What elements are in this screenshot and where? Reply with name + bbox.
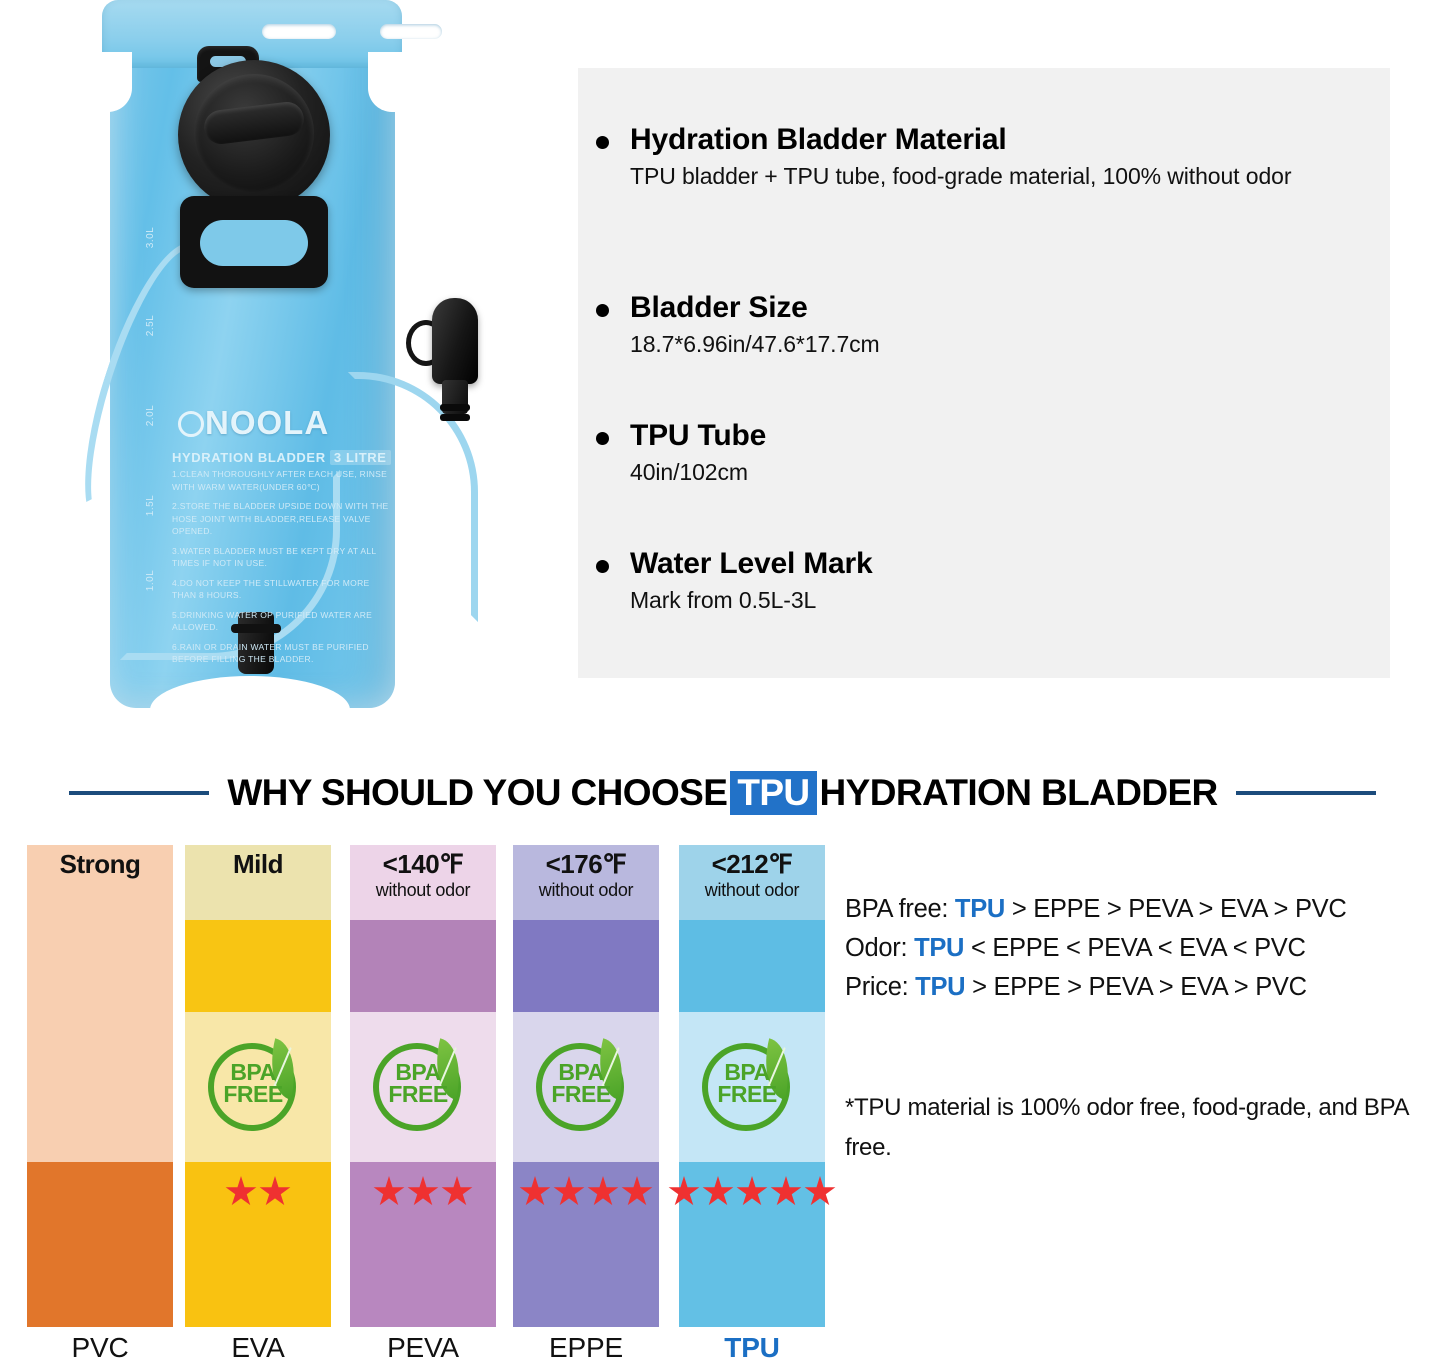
feature-title: Bladder Size — [630, 290, 1350, 326]
bullet-icon — [596, 432, 609, 445]
rating-stars — [519, 1176, 653, 1208]
ranking-operator: > — [1192, 895, 1220, 923]
feature-description: Mark from 0.5L-3L — [630, 585, 1350, 616]
care-instruction-item: 2.STORE THE BLADDER UPSIDE DOWN WITH THE… — [172, 500, 392, 538]
feature-item: Bladder Size 18.7*6.96in/47.6*17.7cm — [630, 290, 1350, 360]
column-bpa-band: BPAFREE — [185, 1012, 331, 1162]
ranking-item: EPPE — [1033, 895, 1100, 923]
column-body-band — [27, 920, 173, 1012]
material-column-pvc: Strong — [27, 845, 173, 1327]
column-bpa-band: BPAFREE — [350, 1012, 496, 1162]
feature-description: 18.7*6.96in/47.6*17.7cm — [630, 329, 1350, 360]
bladder-waist-right — [368, 52, 402, 112]
ranking-line: Price: TPU > EPPE > PEVA > EVA > PVC — [845, 968, 1445, 1007]
bullet-icon — [596, 560, 609, 573]
material-label-tpu: TPU — [679, 1332, 825, 1364]
ranking-list: BPA free: TPU > EPPE > PEVA > EVA > PVCO… — [845, 890, 1445, 1007]
bpa-free-icon: BPAFREE — [371, 1035, 475, 1139]
ranking-operator: < — [1226, 934, 1254, 962]
column-header-band: Mild — [185, 845, 331, 920]
brand-logo-text: NOOLA — [205, 404, 329, 441]
column-heat-or-odor-label: Strong — [60, 849, 141, 879]
column-odor-label: without odor — [705, 879, 799, 901]
star-icon — [770, 1176, 802, 1208]
care-instruction-item: 1.CLEAN THOROUGHLY AFTER EACH USE, RINSE… — [172, 468, 392, 493]
ranking-label: Price: — [845, 973, 915, 1001]
ranking-label: Odor: — [845, 934, 914, 962]
bullet-icon — [596, 304, 609, 317]
column-rating-band — [679, 1162, 825, 1327]
rating-stars — [225, 1176, 291, 1208]
bpa-label: BPAFREE — [544, 1061, 618, 1105]
ranking-item: EVA — [1220, 895, 1267, 923]
product-infographic-page: 3.0L 2.5L 2.0L 1.5L 1.0L NOOLA HYDRATION… — [0, 0, 1445, 1370]
star-icon — [587, 1176, 619, 1208]
footnote: *TPU material is 100% odor free, food-gr… — [845, 1088, 1420, 1168]
star-icon — [736, 1176, 768, 1208]
feature-description: TPU bladder + TPU tube, food-grade mater… — [630, 161, 1350, 192]
ranking-operator: < — [1059, 934, 1087, 962]
column-rating-band — [27, 1162, 173, 1327]
column-header-band: Strong — [27, 845, 173, 920]
care-instruction-item: 5.DRINKING WATER OP PURIFIED WATER ARE A… — [172, 609, 392, 634]
column-body-band — [350, 920, 496, 1012]
star-icon — [804, 1176, 836, 1208]
feature-item: Hydration Bladder Material TPU bladder +… — [630, 122, 1350, 192]
care-instructions: 1.CLEAN THOROUGHLY AFTER EACH USE, RINSE… — [172, 468, 392, 673]
product-subtitle-text: HYDRATION BLADDER — [172, 450, 326, 465]
column-heat-or-odor-label: <140℉ — [383, 849, 464, 879]
ranking-item: PVC — [1255, 973, 1307, 1001]
ranking-item: TPU — [914, 934, 964, 962]
ranking-item: PEVA — [1087, 934, 1151, 962]
material-column-eppe: <176℉without odorBPAFREE — [513, 845, 659, 1327]
column-header-band: <176℉without odor — [513, 845, 659, 920]
feature-panel: Hydration Bladder Material TPU bladder +… — [578, 68, 1390, 678]
column-bpa-band: BPAFREE — [679, 1012, 825, 1162]
column-body-band — [185, 920, 331, 1012]
ranking-item: EVA — [1180, 973, 1227, 1001]
ranking-label: BPA free: — [845, 895, 955, 923]
bpa-free-icon: BPAFREE — [700, 1035, 804, 1139]
carry-handle — [180, 196, 328, 288]
heading-tpu-badge: TPU — [730, 771, 816, 815]
star-icon — [702, 1176, 734, 1208]
column-heat-or-odor-label: Mild — [233, 849, 283, 879]
material-label-peva: PEVA — [350, 1332, 496, 1364]
ranking-operator: > — [1227, 973, 1255, 1001]
star-icon — [621, 1176, 653, 1208]
product-subtitle: HYDRATION BLADDER 3 LITRE — [172, 450, 402, 465]
hanger-slot-left — [262, 24, 336, 39]
column-odor-label: without odor — [376, 879, 470, 901]
column-header-band: <140℉without odor — [350, 845, 496, 920]
valve-ring-lower — [440, 414, 470, 421]
ranking-item: EPPE — [993, 973, 1060, 1001]
material-label-eppe: EPPE — [513, 1332, 659, 1364]
ranking-line: Odor: TPU < EPPE < PEVA < EVA < PVC — [845, 929, 1445, 968]
column-heat-or-odor-label: <176℉ — [546, 849, 627, 879]
ranking-operator: > — [965, 973, 993, 1001]
column-rating-band — [185, 1162, 331, 1327]
care-instruction-item: 4.DO NOT KEEP THE STILLWATER FOR MORE TH… — [172, 577, 392, 602]
star-icon — [668, 1176, 700, 1208]
bite-valve-cover — [432, 298, 478, 384]
material-column-peva: <140℉without odorBPAFREE — [350, 845, 496, 1327]
bladder-cap — [178, 60, 330, 210]
column-rating-band — [350, 1162, 496, 1327]
ranking-operator: < — [1151, 934, 1179, 962]
carry-handle-hole — [200, 220, 308, 266]
brand-logo: NOOLA — [178, 404, 358, 442]
product-image: 3.0L 2.5L 2.0L 1.5L 1.0L NOOLA HYDRATION… — [0, 0, 560, 740]
feature-title: TPU Tube — [630, 418, 1350, 454]
product-capacity: 3 LITRE — [330, 450, 391, 465]
ranking-operator: > — [1152, 973, 1180, 1001]
rating-stars — [668, 1176, 836, 1208]
column-body-band — [513, 920, 659, 1012]
feature-item: TPU Tube 40in/102cm — [630, 418, 1350, 488]
bpa-label: BPAFREE — [710, 1061, 784, 1105]
bullet-icon — [596, 136, 609, 149]
feature-item: Water Level Mark Mark from 0.5L-3L — [630, 546, 1350, 616]
bpa-label: BPAFREE — [216, 1061, 290, 1105]
care-instruction-item: 6.RAIN OR DRAIN WATER MUST BE PURIFIED B… — [172, 641, 392, 666]
feature-title: Water Level Mark — [630, 546, 1350, 582]
bpa-free-icon: BPAFREE — [534, 1035, 638, 1139]
star-icon — [259, 1176, 291, 1208]
column-odor-label: without odor — [539, 879, 633, 901]
graduation-mark: 3.0L — [145, 227, 156, 248]
ranking-operator: > — [1100, 895, 1128, 923]
feature-description: 40in/102cm — [630, 457, 1350, 488]
column-header-band: <212℉without odor — [679, 845, 825, 920]
ranking-item: PVC — [1254, 934, 1306, 962]
brand-logo-ring — [178, 411, 204, 437]
ranking-item: EPPE — [992, 934, 1059, 962]
star-icon — [373, 1176, 405, 1208]
ranking-item: EVA — [1179, 934, 1226, 962]
ranking-item: PVC — [1295, 895, 1347, 923]
ranking-item: PEVA — [1088, 973, 1152, 1001]
star-icon — [407, 1176, 439, 1208]
material-label-eva: EVA — [185, 1332, 331, 1364]
ranking-item: PEVA — [1128, 895, 1192, 923]
material-label-pvc: PVC — [27, 1332, 173, 1364]
column-bpa-band: BPAFREE — [513, 1012, 659, 1162]
bpa-label: BPAFREE — [381, 1061, 455, 1105]
heading-text-after: HYDRATION BLADDER — [820, 772, 1218, 814]
hanger-slot-right — [380, 24, 442, 39]
star-icon — [441, 1176, 473, 1208]
ranking-operator: > — [1267, 895, 1295, 923]
valve-ring-upper — [440, 404, 470, 411]
care-instruction-item: 3.WATER BLADDER MUST BE KEPT DRY AT ALL … — [172, 545, 392, 570]
star-icon — [519, 1176, 551, 1208]
material-column-eva: MildBPAFREE — [185, 845, 331, 1327]
heading-rule-right — [1236, 791, 1376, 795]
bpa-free-icon: BPAFREE — [206, 1035, 310, 1139]
ranking-item: TPU — [915, 973, 965, 1001]
column-body-band — [679, 920, 825, 1012]
ranking-operator: < — [964, 934, 992, 962]
ranking-operator: > — [1005, 895, 1033, 923]
ranking-operator: > — [1060, 973, 1088, 1001]
ranking-item: TPU — [955, 895, 1005, 923]
material-labels-row: PVCEVAPEVAEPPETPU — [0, 1332, 845, 1370]
rating-stars — [373, 1176, 473, 1208]
star-icon — [553, 1176, 585, 1208]
column-bpa-band — [27, 1012, 173, 1162]
column-rating-band — [513, 1162, 659, 1327]
ranking-line: BPA free: TPU > EPPE > PEVA > EVA > PVC — [845, 890, 1445, 929]
section-heading: WHY SHOULD YOU CHOOSE TPU HYDRATION BLAD… — [0, 766, 1445, 820]
material-comparison-chart: StrongMildBPAFREE<140℉without odorBPAFRE… — [0, 845, 845, 1330]
star-icon — [225, 1176, 257, 1208]
heading-text-before: WHY SHOULD YOU CHOOSE — [227, 772, 727, 814]
feature-title: Hydration Bladder Material — [630, 122, 1350, 158]
heading-rule-left — [69, 791, 209, 795]
material-column-tpu: <212℉without odorBPAFREE — [679, 845, 825, 1327]
column-heat-or-odor-label: <212℉ — [712, 849, 793, 879]
heading-text: WHY SHOULD YOU CHOOSE TPU HYDRATION BLAD… — [227, 771, 1217, 815]
